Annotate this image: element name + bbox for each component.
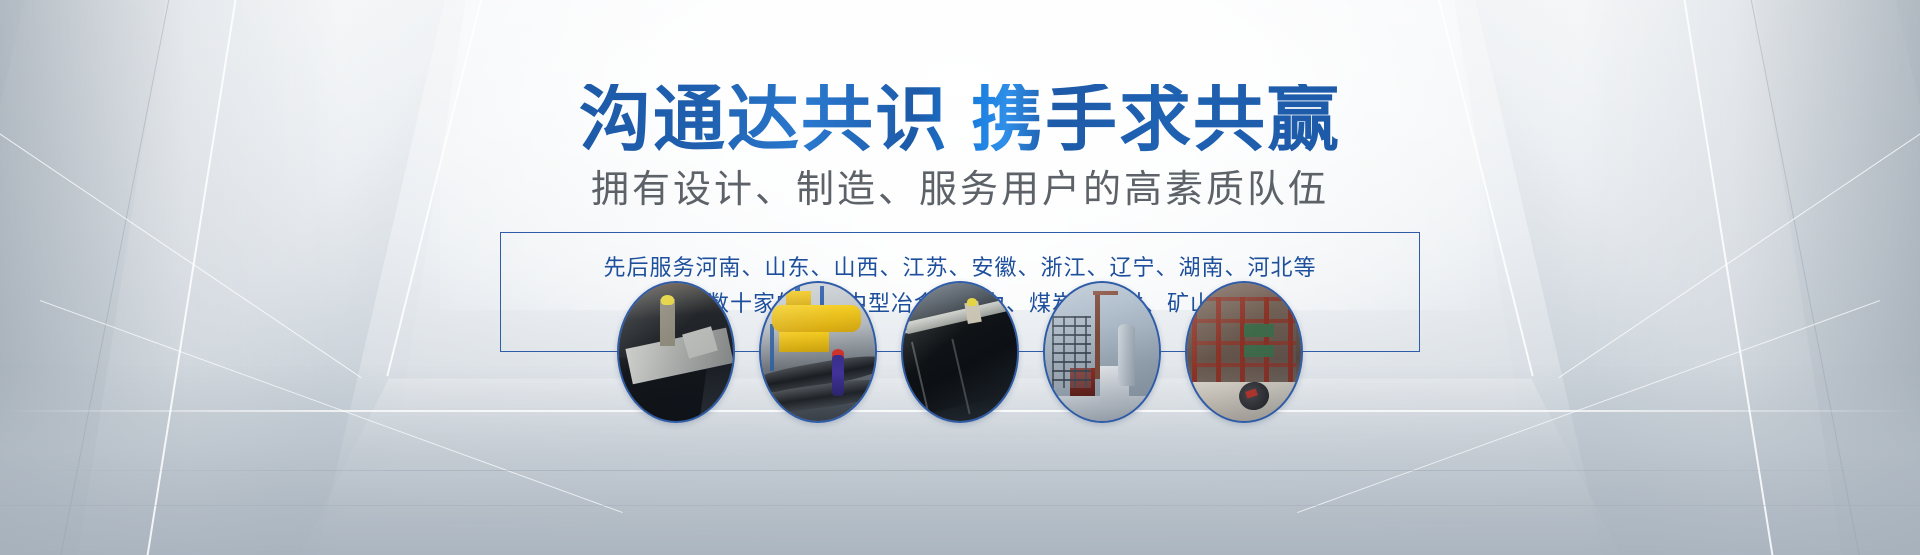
thumb-steel-plate-panel[interactable] — [901, 281, 1019, 423]
promo-banner: 沟通达共识 携手求共赢 拥有设计、制造、服务用户的高素质队伍 先后服务河南、山东… — [0, 0, 1920, 555]
thumb-image-2 — [761, 283, 875, 421]
thumb-tank-lining-worker[interactable] — [617, 281, 735, 423]
thumb-image-4 — [1045, 283, 1159, 421]
banner-subheadline: 拥有设计、制造、服务用户的高素质队伍 — [591, 170, 1329, 212]
banner-content: 沟通达共识 携手求共赢 拥有设计、制造、服务用户的高素质队伍 先后服务河南、山东… — [0, 0, 1920, 555]
thumb-red-steel-frame[interactable] — [1185, 281, 1303, 423]
project-thumbnail-strip — [500, 281, 1420, 423]
thumb-industrial-plant[interactable] — [1043, 281, 1161, 423]
thumb-image-1 — [619, 283, 733, 421]
service-scope-box: 先后服务河南、山东、山西、江苏、安徽、浙江、辽宁、湖南、河北等 全国数十家的大、… — [500, 232, 1420, 352]
thumb-yellow-machinery-pipes[interactable] — [759, 281, 877, 423]
thumb-image-5 — [1187, 283, 1301, 421]
thumb-image-3 — [903, 283, 1017, 421]
banner-headline: 沟通达共识 携手求共赢 — [579, 84, 1341, 156]
